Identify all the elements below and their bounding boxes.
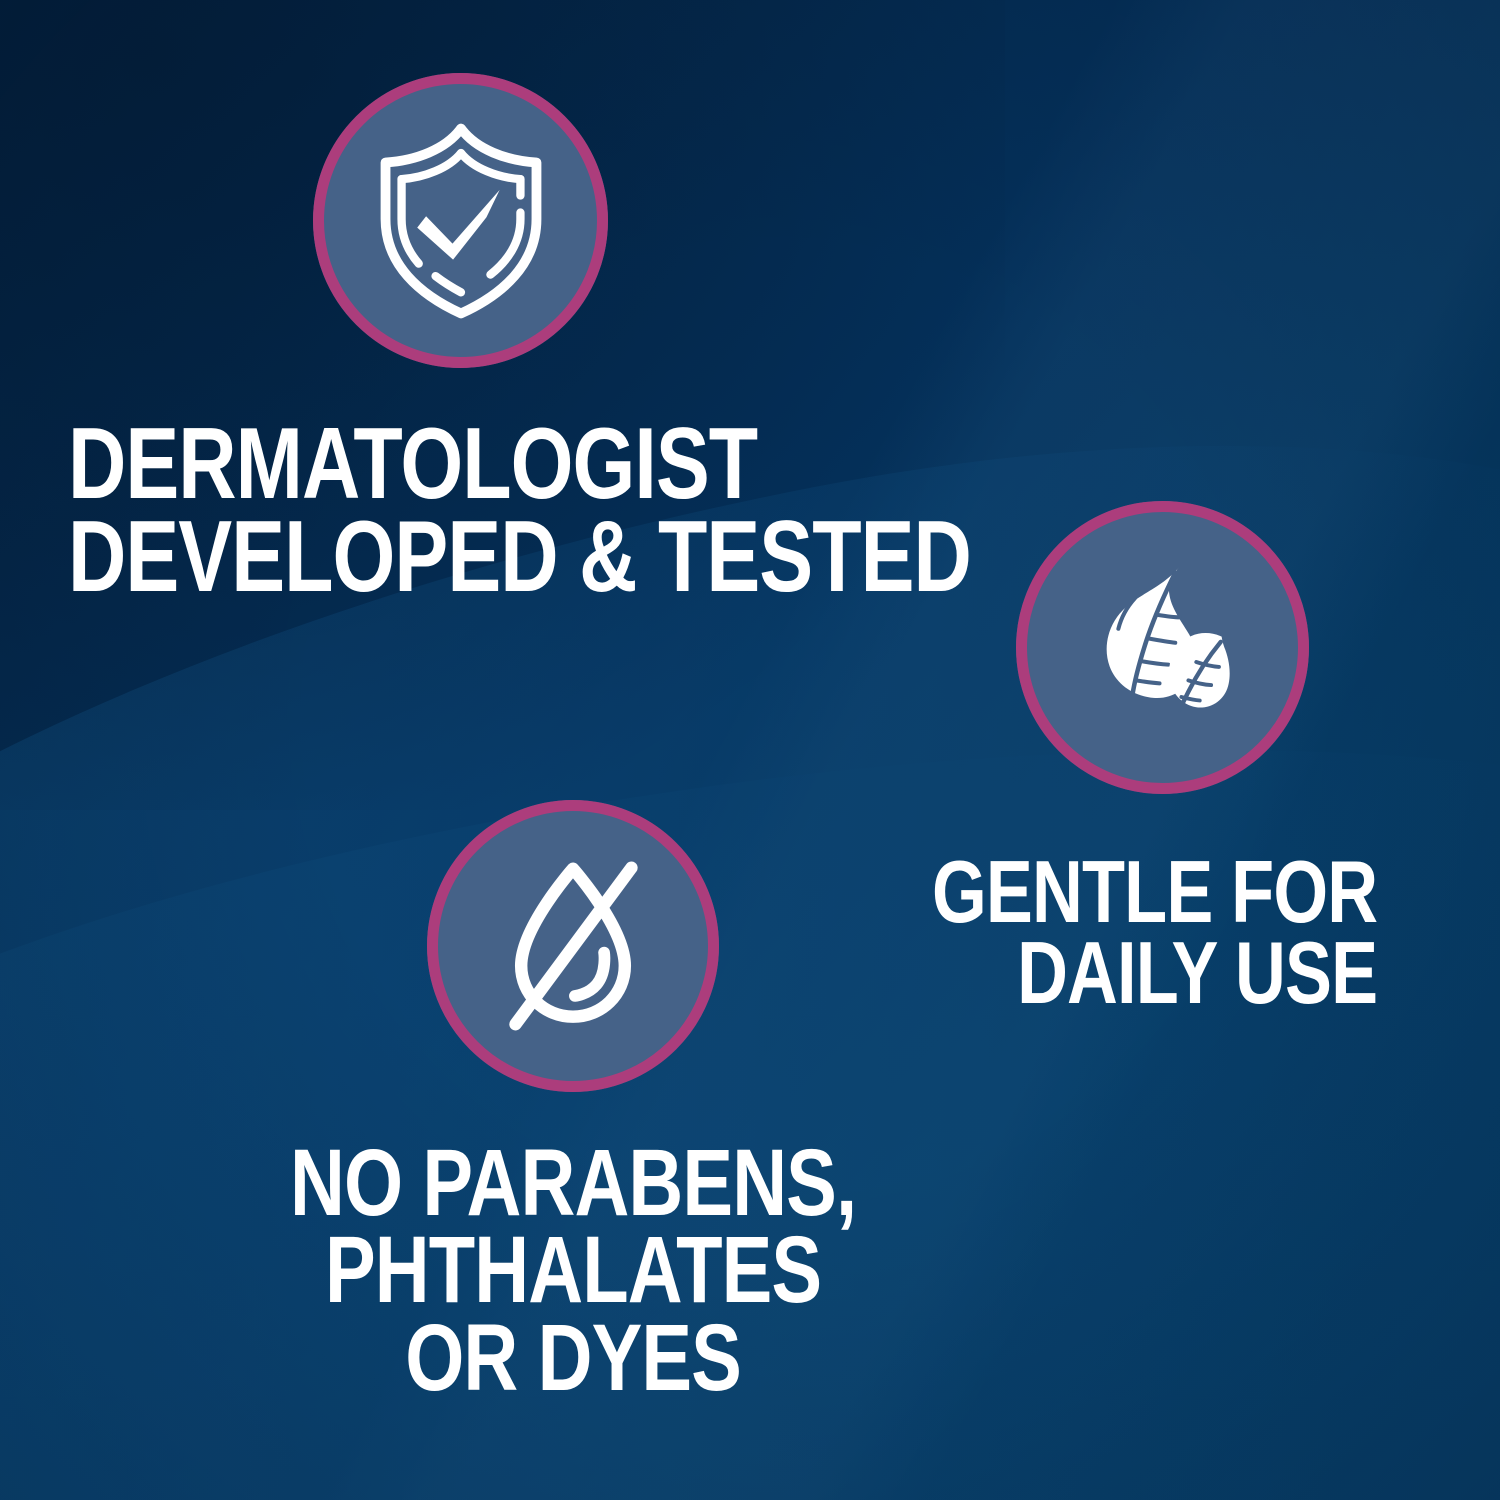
- benefit-badge-dermatologist: [313, 73, 608, 368]
- feathers-icon: [1072, 555, 1254, 741]
- headline-line: DEVELOPED & TESTED: [68, 511, 971, 604]
- headline-line: DERMATOLOGIST: [68, 418, 971, 511]
- benefit-text-dermatologist: DERMATOLOGIST DEVELOPED & TESTED: [68, 418, 971, 604]
- benefit-badge-no-parabens: [427, 800, 719, 1092]
- benefits-graphic: DERMATOLOGIST DEVELOPED & TESTED GENTLE …: [0, 0, 1500, 1500]
- headline-line: OR DYES: [290, 1315, 856, 1402]
- shield-check-icon: [366, 121, 556, 321]
- headline-line: PHTHALATES: [290, 1227, 856, 1314]
- no-droplet-icon: [475, 848, 671, 1044]
- benefit-badge-gentle: [1016, 501, 1309, 794]
- headline-line: NO PARABENS,: [290, 1140, 856, 1227]
- headline-line: DAILY USE: [932, 933, 1377, 1014]
- benefit-text-gentle: GENTLE FOR DAILY USE: [932, 852, 1377, 1014]
- headline-line: GENTLE FOR: [932, 852, 1377, 933]
- benefit-text-no-parabens: NO PARABENS, PHTHALATES OR DYES: [290, 1140, 856, 1402]
